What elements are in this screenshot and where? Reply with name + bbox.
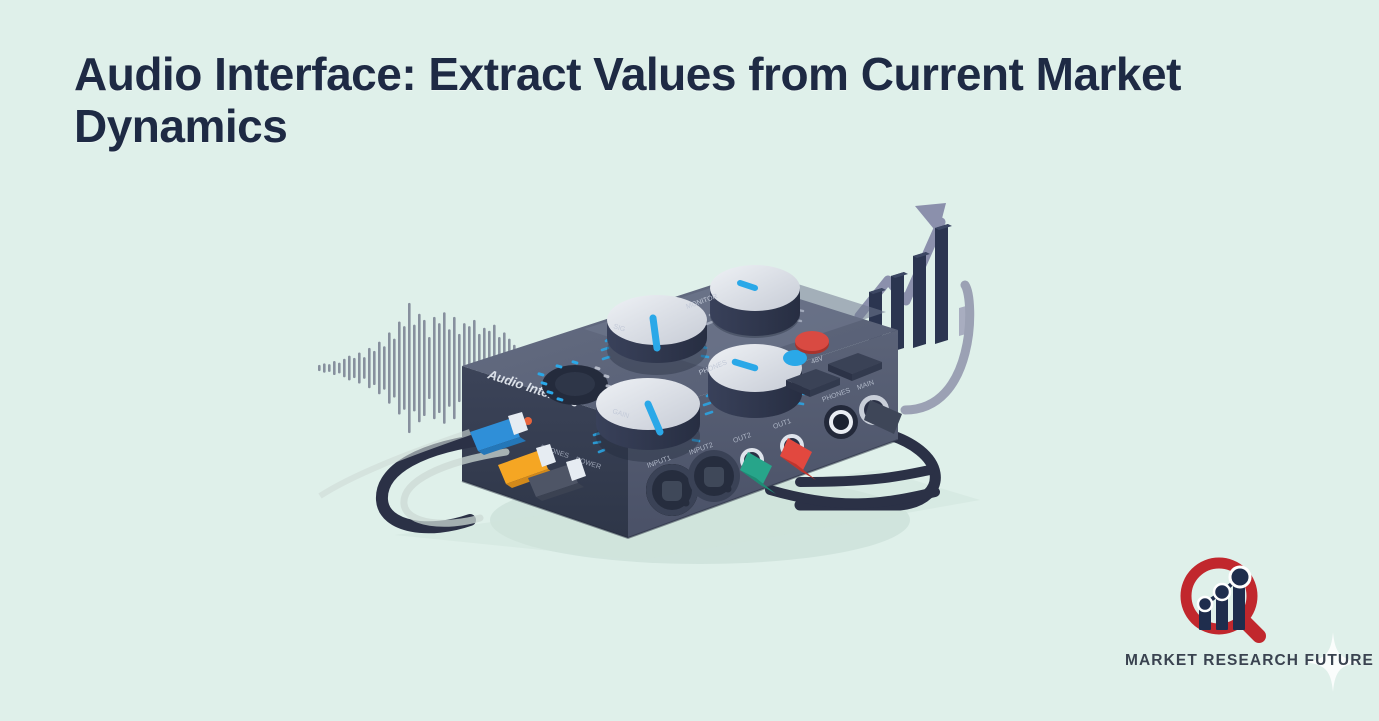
waveform-bar bbox=[453, 317, 456, 419]
waveform-bar bbox=[343, 359, 346, 378]
waveform-bar bbox=[458, 334, 461, 402]
knob-monitor-indicator bbox=[653, 318, 657, 348]
logo-wordmark: MARKET RESEARCH FUTURE bbox=[1125, 652, 1360, 670]
poster-canvas: Audio Interface: Extract Values from Cur… bbox=[0, 0, 1379, 721]
logo-mark-magnifier-chart bbox=[1173, 552, 1273, 652]
waveform-bar bbox=[428, 337, 431, 399]
waveform-bar bbox=[448, 329, 451, 407]
waveform-bar bbox=[433, 317, 436, 419]
waveform-bar bbox=[338, 363, 341, 374]
waveform-bar bbox=[363, 357, 366, 379]
waveform-bar bbox=[443, 312, 446, 424]
magnifier-handle bbox=[1243, 620, 1259, 636]
waveform-bar bbox=[383, 346, 386, 389]
waveform-bar bbox=[323, 363, 326, 372]
waveform-bar bbox=[353, 358, 356, 378]
logo[interactable]: MARKET RESEARCH FUTURE bbox=[1125, 552, 1360, 677]
waveform-bar bbox=[378, 342, 381, 395]
waveform-bar bbox=[328, 364, 331, 372]
waveform-bar bbox=[408, 303, 411, 433]
waveform-bar bbox=[413, 325, 416, 412]
waveform-bar bbox=[393, 339, 396, 398]
waveform-bar bbox=[403, 326, 406, 410]
waveform-bar bbox=[368, 348, 371, 388]
waveform-bar bbox=[318, 365, 321, 371]
waveform-bar bbox=[373, 351, 376, 385]
waveform-bar bbox=[388, 332, 391, 403]
knob-gain[interactable]: GAIN bbox=[594, 378, 700, 462]
waveform-bar bbox=[358, 353, 361, 384]
waveform-bar bbox=[398, 322, 401, 415]
waveform-bar bbox=[418, 314, 421, 423]
waveform-bar bbox=[438, 323, 441, 413]
waveform-bar bbox=[348, 356, 351, 381]
waveform-bar bbox=[333, 361, 336, 375]
waveform-bar bbox=[423, 320, 426, 416]
